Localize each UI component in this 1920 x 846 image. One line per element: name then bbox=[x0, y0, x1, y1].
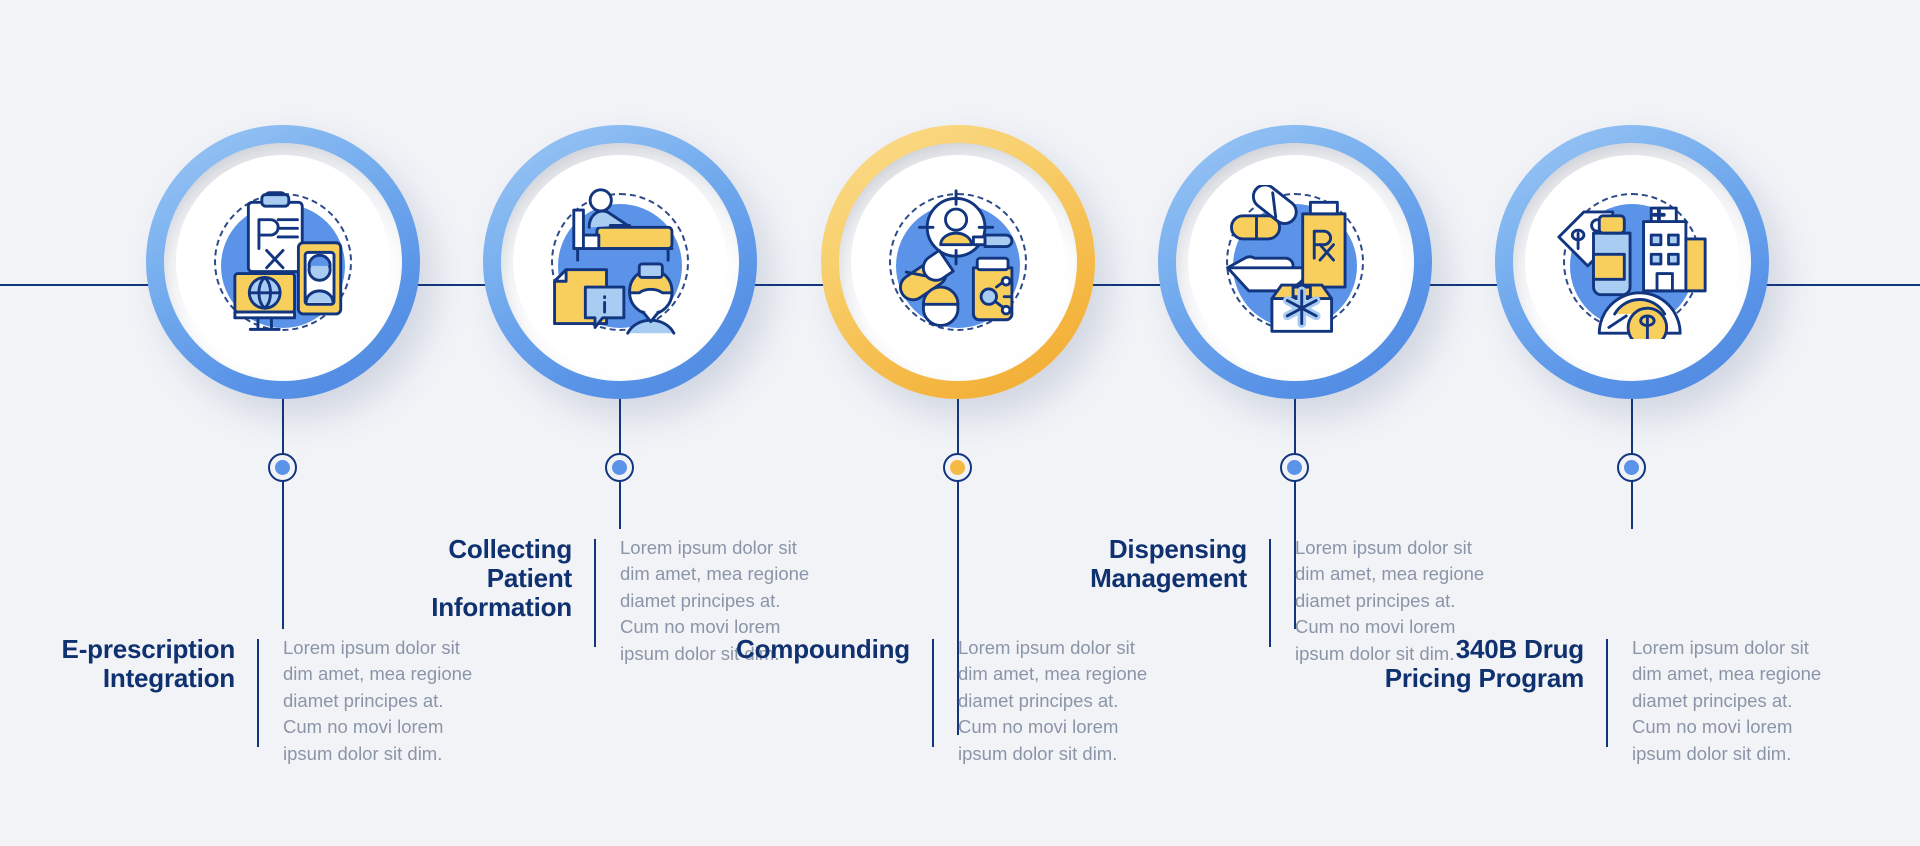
infographic-canvas: E-prescription Integration Lorem ipsum d… bbox=[0, 0, 1920, 846]
node-dot bbox=[950, 460, 965, 475]
node-dot bbox=[612, 460, 627, 475]
step-circle-3[interactable] bbox=[821, 125, 1095, 399]
circle-disc bbox=[1513, 143, 1751, 381]
node-dot bbox=[1287, 460, 1302, 475]
label-divider bbox=[1606, 639, 1608, 747]
step-title-4: Dispensing Management bbox=[1047, 535, 1247, 593]
step-circle-5[interactable] bbox=[1495, 125, 1769, 399]
circle-disc-inner bbox=[1525, 155, 1739, 369]
compounding-icon bbox=[881, 185, 1035, 339]
patient-information-icon bbox=[543, 185, 697, 339]
node-dot bbox=[275, 460, 290, 475]
step-circle-2[interactable] bbox=[483, 125, 757, 399]
step-title-1: E-prescription Integration bbox=[35, 635, 235, 693]
step-title-3: Compounding bbox=[710, 635, 910, 664]
step-circle-4[interactable] bbox=[1158, 125, 1432, 399]
step-title-5: 340B Drug Pricing Program bbox=[1384, 635, 1584, 693]
step-circle-1[interactable] bbox=[146, 125, 420, 399]
circle-disc bbox=[1176, 143, 1414, 381]
step-title-2: Collecting Patient Information bbox=[372, 535, 572, 622]
node-4[interactable] bbox=[1280, 453, 1309, 482]
step-label-5[interactable]: 340B Drug Pricing Program Lorem ipsum do… bbox=[1384, 635, 1832, 767]
label-divider bbox=[1269, 539, 1271, 647]
node-1[interactable] bbox=[268, 453, 297, 482]
step-body-5: Lorem ipsum dolor sit dim amet, mea regi… bbox=[1632, 635, 1832, 767]
circle-disc bbox=[839, 143, 1077, 381]
node-2[interactable] bbox=[605, 453, 634, 482]
circle-disc bbox=[501, 143, 739, 381]
label-divider bbox=[594, 539, 596, 647]
node-3[interactable] bbox=[943, 453, 972, 482]
circle-disc-inner bbox=[513, 155, 727, 369]
label-divider bbox=[257, 639, 259, 747]
drug-pricing-program-icon bbox=[1555, 185, 1709, 339]
circle-disc-inner bbox=[851, 155, 1065, 369]
node-dot bbox=[1624, 460, 1639, 475]
e-prescription-icon bbox=[206, 185, 360, 339]
circle-disc-inner bbox=[176, 155, 390, 369]
circle-disc-inner bbox=[1188, 155, 1402, 369]
label-divider bbox=[932, 639, 934, 747]
circle-disc bbox=[164, 143, 402, 381]
dispensing-management-icon bbox=[1218, 185, 1372, 339]
stem-1 bbox=[282, 399, 284, 629]
node-5[interactable] bbox=[1617, 453, 1646, 482]
